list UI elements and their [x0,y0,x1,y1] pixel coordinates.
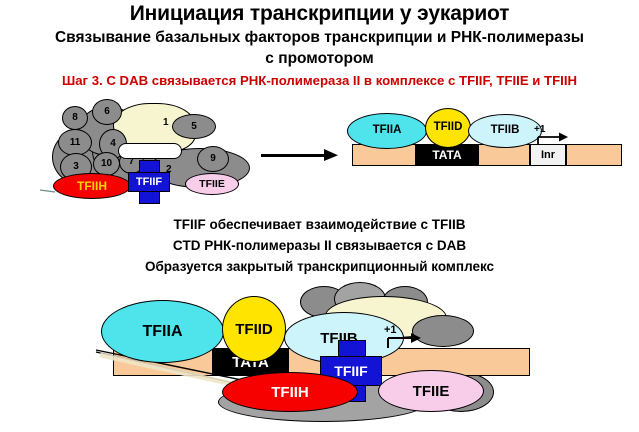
start-site-arrow-bottom-icon [0,0,639,432]
slide-canvas: Инициация транскрипции у эукариот Связыв… [0,0,639,432]
caption-line-2: CTD РНК-полимеразы II связывается с DAB [0,238,639,253]
caption-line-3: Образуется закрытый транскрипционный ком… [0,259,639,274]
caption-line-1: TFIIF обеспечивает взаимодействие с TFII… [0,217,639,232]
